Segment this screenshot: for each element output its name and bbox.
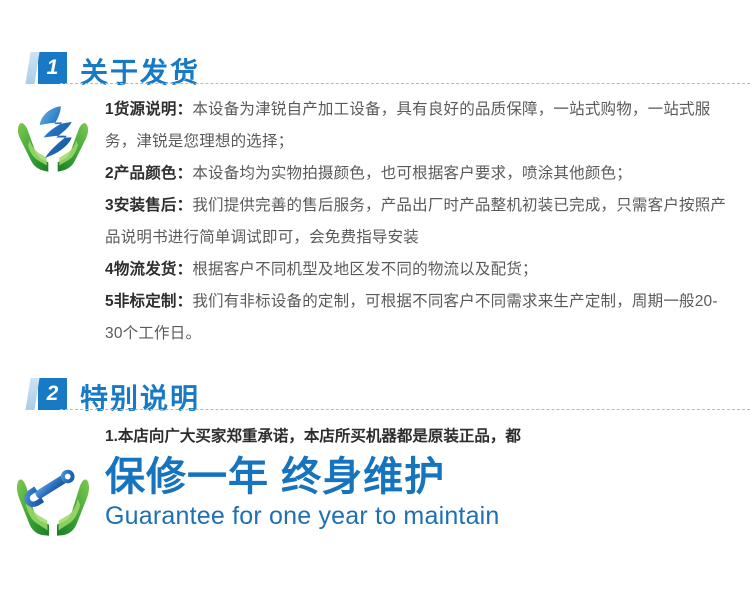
item-lead: 2产品颜色： [105,165,192,182]
icon-column [0,424,105,540]
list-item: 2产品颜色：本设备均为实物拍摄颜色，也可根据客户要求，喷涂其他颜色； [105,158,734,190]
item-lead: 1货源说明： [105,101,192,118]
text-column: 1.本店向广大买家郑重承诺，本店所买机器都是原装正品，都 保修一年 终身维护 G… [105,424,750,532]
section-badge-1: 1 [28,48,67,84]
text-column: 1货源说明：本设备为津锐自产加工设备，具有良好的品质保障，一站式购物，一站式服务… [105,94,750,350]
hands-lightning-icon [14,100,92,178]
list-item: 5非标定制：我们有非标设备的定制，可根据不同客户不同需求来生产定制，周期一般20… [105,286,734,350]
list-item: 3安装售后：我们提供完善的售后服务，产品出厂时产品整机初装已完成，只需客户按照产… [105,190,734,254]
item-lead: 3安装售后： [105,197,192,214]
item-lead: 4物流发货： [105,261,192,278]
product-description-page: 1 关于发货 [0,38,750,610]
badge-number: 2 [38,378,67,410]
hands-wrench-icon [13,458,93,540]
list-item: 4物流发货：根据客户不同机型及地区发不同的物流以及配货； [105,254,734,286]
section-header-shipping: 1 关于发货 [0,38,750,84]
header-divider [60,409,750,410]
section-header-special-notes: 2 特别说明 [0,364,750,410]
header-divider [60,83,750,84]
badge-number: 1 [38,52,67,84]
guarantee-headline-en: Guarantee for one year to maintain [105,500,734,532]
item-body: 我们提供完善的售后服务，产品出厂时产品整机初装已完成，只需客户按照产品说明书进行… [105,197,726,246]
item-body: 本设备为津锐自产加工设备，具有良好的品质保障，一站式购物，一站式服务，津锐是您理… [105,101,710,150]
icon-column [0,94,105,178]
list-item: 1货源说明：本设备为津锐自产加工设备，具有良好的品质保障，一站式购物，一站式服务… [105,94,734,158]
item-body: 根据客户不同机型及地区发不同的物流以及配货； [192,261,537,278]
section-badge-2: 2 [28,374,67,410]
guarantee-block: 保修一年 终身维护 Guarantee for one year to main… [105,452,734,532]
section-body-special-notes: 1.本店向广大买家郑重承诺，本店所买机器都是原装正品，都 保修一年 终身维护 G… [0,424,750,540]
item-body: 我们有非标设备的定制，可根据不同客户不同需求来生产定制，周期一般20-30个工作… [105,293,718,342]
section-body-shipping: 1货源说明：本设备为津锐自产加工设备，具有良好的品质保障，一站式购物，一站式服务… [0,94,750,350]
promise-text: 1.本店向广大买家郑重承诺，本店所买机器都是原装正品，都 [105,424,734,450]
item-body: 本设备均为实物拍摄颜色，也可根据客户要求，喷涂其他颜色； [192,165,632,182]
guarantee-headline-cn: 保修一年 终身维护 [105,454,734,500]
item-lead: 5非标定制： [105,293,192,310]
